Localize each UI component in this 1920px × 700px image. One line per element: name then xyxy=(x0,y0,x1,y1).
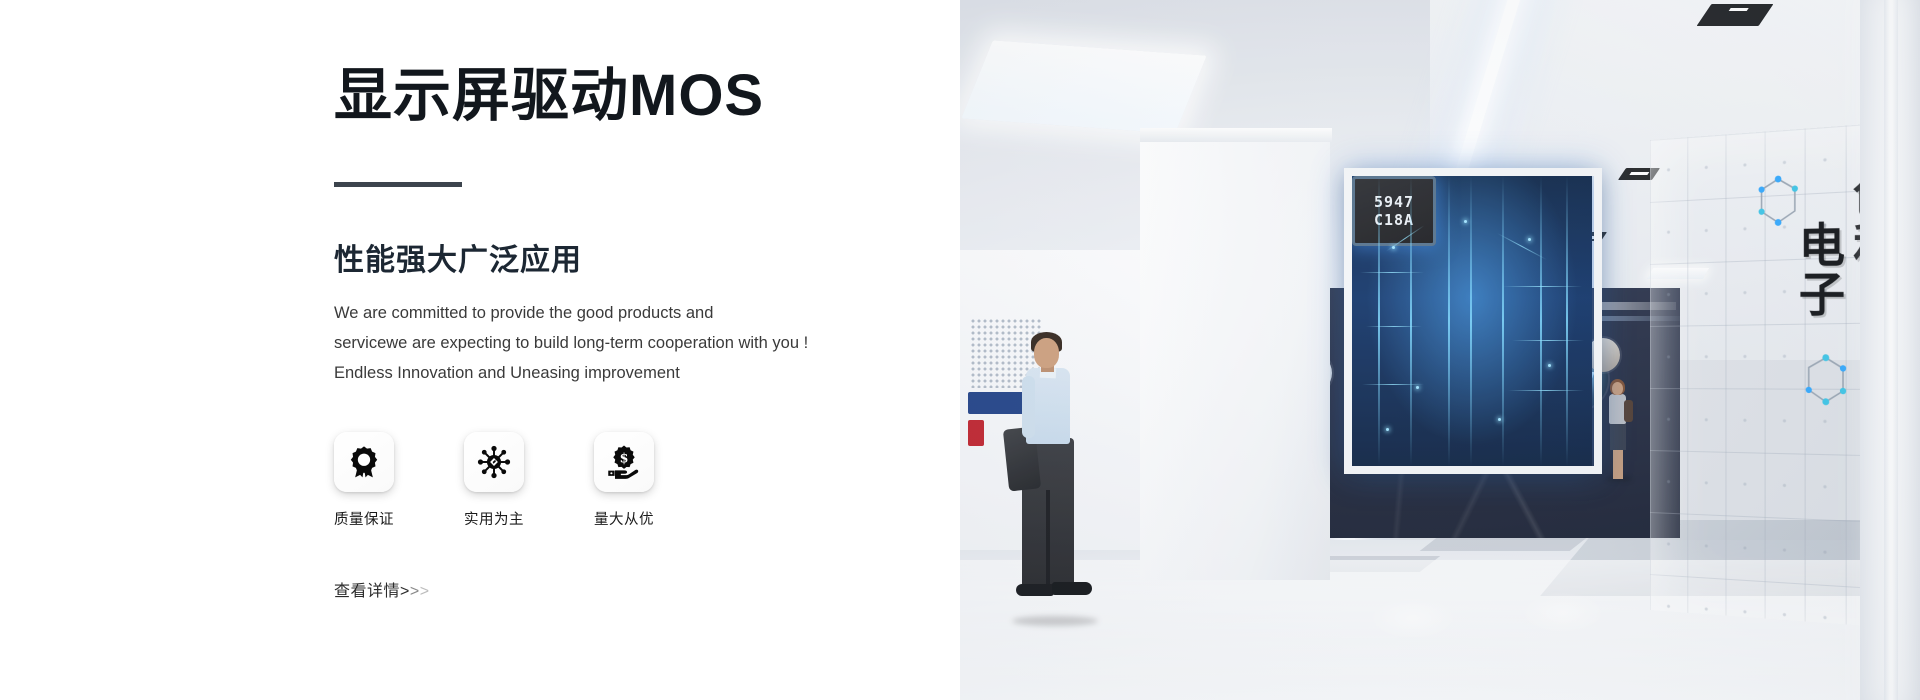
feature-label: 实用为主 xyxy=(464,508,536,529)
chevron-2-icon: > xyxy=(410,583,420,600)
feature-icon-card xyxy=(464,432,524,492)
feature-list: 质量保证 xyxy=(334,432,960,529)
chevron-3-icon: > xyxy=(420,583,430,600)
chevron-1-icon: > xyxy=(400,583,410,600)
man-shoe xyxy=(1016,584,1054,596)
man-arm xyxy=(1022,376,1035,438)
woman-handbag xyxy=(1624,400,1633,422)
network-chip-icon xyxy=(476,444,512,480)
description-line-2: servicewe are expecting to build long-te… xyxy=(334,328,874,358)
banner-subtitle: 性能强大广泛应用 xyxy=(334,235,960,279)
red-wall-plaque xyxy=(968,420,984,446)
feature-label: 量大从优 xyxy=(594,508,666,529)
feature-item-practical[interactable]: 实用为主 xyxy=(464,432,536,529)
white-pillar-top xyxy=(1140,128,1332,142)
floor-band xyxy=(1420,538,1587,551)
hexagon-molecule-icon xyxy=(1756,174,1801,228)
banner-text-panel: 显示屏驱动MOS 性能强大广泛应用 We are committed to pr… xyxy=(0,0,960,700)
led-chip-graphic: 5947 C18A xyxy=(1352,176,1436,246)
floor-reflection xyxy=(1368,596,1458,640)
title-divider xyxy=(334,182,462,187)
wall-sign-column-2: 电子 xyxy=(1793,220,1845,319)
description-line-3: Endless Innovation and Uneasing improvem… xyxy=(334,358,874,388)
description-line-1: We are committed to provide the good pro… xyxy=(334,298,874,328)
led-display-screen: 5947 C18A xyxy=(1352,176,1592,466)
man-leg-gap xyxy=(1046,490,1050,590)
svg-text:$: $ xyxy=(620,451,629,466)
floor-reflection xyxy=(1520,592,1606,634)
hexagon-molecule-icon xyxy=(1803,353,1849,408)
feature-icon-card: $ xyxy=(594,432,654,492)
man-shoe xyxy=(1052,582,1092,595)
showroom-photo: 5947 C18A 创和 电子 xyxy=(960,0,1920,700)
man-head xyxy=(1034,338,1059,368)
feature-item-quality[interactable]: 质量保证 xyxy=(334,432,406,529)
vertical-light-strip xyxy=(1884,0,1898,700)
banner-title: 显示屏驱动MOS xyxy=(334,64,960,128)
medal-ribbon-icon xyxy=(346,444,382,480)
banner-description: We are committed to provide the good pro… xyxy=(334,298,874,388)
man-shadow xyxy=(1012,616,1098,626)
feature-label: 质量保证 xyxy=(334,508,406,529)
feature-icon-card xyxy=(334,432,394,492)
feature-item-bulk-discount[interactable]: $ 量大从优 xyxy=(594,432,666,529)
hand-coin-icon: $ xyxy=(606,444,642,480)
woman-legs xyxy=(1613,449,1623,479)
view-details-label: 查看详情 xyxy=(334,583,400,600)
woman-skirt xyxy=(1610,422,1626,450)
blue-wall-plaque xyxy=(968,392,1024,414)
skylight-panel xyxy=(961,40,1206,133)
white-pillar xyxy=(1140,130,1330,580)
promo-banner: 显示屏驱动MOS 性能强大广泛应用 We are committed to pr… xyxy=(0,0,1920,700)
view-details-link[interactable]: 查看详情>>> xyxy=(334,577,430,601)
woman-head xyxy=(1612,382,1623,395)
